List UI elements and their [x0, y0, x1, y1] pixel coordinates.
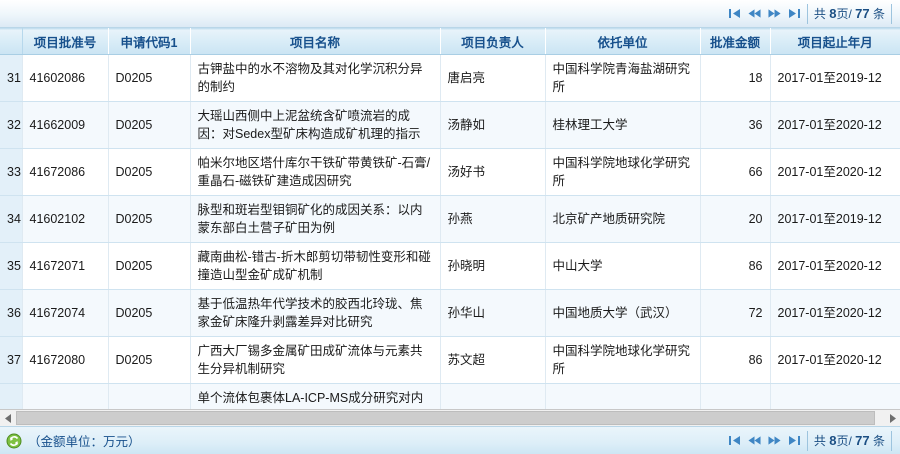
table-row[interactable]: 3141602086D0205古钾盐中的水不溶物及其对化学沉积分异的制约唐启亮中…: [0, 55, 900, 102]
project-name-cell: 藏南曲松-错古-折木郎剪切带韧性变形和碰撞造山型金矿成矿机制: [190, 243, 440, 290]
row-index-cell: 35: [0, 243, 22, 290]
count-prefix: 共: [814, 7, 826, 21]
grant-no-cell: 41672080: [22, 337, 108, 384]
project-name-cell: 单个流体包裹体LA-ICP-MS成分研究对内蒙古白音诺尔矽卡岩型铅锌矿床成矿流体…: [190, 384, 440, 410]
column-header-grant-no[interactable]: 项目批准号: [22, 29, 108, 55]
row-index-cell: 37: [0, 337, 22, 384]
column-header-principal-investigator[interactable]: 项目负责人: [440, 29, 545, 55]
project-name-cell: 脉型和斑岩型钼铜矿化的成因关系：以内蒙东部白土营子矿田为例: [190, 196, 440, 243]
row-index-cell: 32: [0, 102, 22, 149]
scroll-left-arrow-icon[interactable]: [0, 410, 16, 426]
table-row[interactable]: 3341672086D0205帕米尔地区塔什库尔干铁矿带黄铁矿-石膏/重晶石-磁…: [0, 149, 900, 196]
last-page-icon[interactable]: [788, 434, 801, 447]
project-name-cell: 帕米尔地区塔什库尔干铁矿带黄铁矿-石膏/重晶石-磁铁矿建造成因研究: [190, 149, 440, 196]
table-row[interactable]: 3841602083D0205单个流体包裹体LA-ICP-MS成分研究对内蒙古白…: [0, 384, 900, 410]
project-period-cell: 2017-01至2020-12: [770, 243, 900, 290]
amount-unit-note: （金额单位：万元）: [28, 431, 141, 450]
institution-cell: 中山大学: [545, 243, 700, 290]
approved-amount-cell: 72: [700, 290, 770, 337]
project-name-cell: 广西大厂锡多金属矿田成矿流体与元素共生分异机制研究: [190, 337, 440, 384]
row-index-cell: 31: [0, 55, 22, 102]
principal-investigator-cell: 汤静如: [440, 102, 545, 149]
first-page-icon[interactable]: [728, 7, 741, 20]
amount-unit-note-group: （金额单位：万元）: [6, 431, 141, 450]
row-index-cell: 36: [0, 290, 22, 337]
table-row[interactable]: 3641672074D0205基于低温热年代学技术的胶西北玲珑、焦家金矿床隆升剥…: [0, 290, 900, 337]
project-period-cell: 2017-01至2019-12: [770, 384, 900, 410]
scrollbar-thumb[interactable]: [16, 411, 875, 425]
top-pagination-nav: [728, 7, 801, 20]
approved-amount-cell: 20: [700, 384, 770, 410]
top-page-count: 共 8页/ 77 条: [807, 4, 892, 24]
institution-cell: 中国地质大学（武汉）: [545, 290, 700, 337]
principal-investigator-cell: 孙燕: [440, 196, 545, 243]
application-code-cell: D0205: [108, 149, 190, 196]
results-table: 项目批准号 申请代码1 项目名称 项目负责人 依托单位 批准金额 项目起止年月 …: [0, 28, 900, 409]
institution-cell: 中国科学院地球化学研究所: [545, 337, 700, 384]
institution-cell: 桂林理工大学: [545, 102, 700, 149]
column-header-approved-amount[interactable]: 批准金额: [700, 29, 770, 55]
column-header-index[interactable]: [0, 29, 22, 55]
approved-amount-cell: 86: [700, 243, 770, 290]
row-index-cell: 33: [0, 149, 22, 196]
approved-amount-cell: 36: [700, 102, 770, 149]
grant-no-cell: 41672071: [22, 243, 108, 290]
prev-page-icon[interactable]: [748, 434, 761, 447]
project-period-cell: 2017-01至2019-12: [770, 55, 900, 102]
currency-refresh-icon: [6, 433, 22, 449]
table-row[interactable]: 3741672080D0205广西大厂锡多金属矿田成矿流体与元素共生分异机制研究…: [0, 337, 900, 384]
project-period-cell: 2017-01至2019-12: [770, 196, 900, 243]
project-period-cell: 2017-01至2020-12: [770, 149, 900, 196]
prev-page-icon[interactable]: [748, 7, 761, 20]
application-code-cell: D0205: [108, 384, 190, 410]
principal-investigator-cell: 苏文超: [440, 337, 545, 384]
pages-unit: 页/: [836, 434, 851, 448]
table-row[interactable]: 3541672071D0205藏南曲松-错古-折木郎剪切带韧性变形和碰撞造山型金…: [0, 243, 900, 290]
column-header-institution[interactable]: 依托单位: [545, 29, 700, 55]
last-page-icon[interactable]: [788, 7, 801, 20]
pages-unit: 页/: [836, 7, 851, 21]
bottom-pagination: 共 8页/ 77 条: [728, 431, 892, 451]
institution-cell: 中国科学院地球化学研究所: [545, 149, 700, 196]
next-page-icon[interactable]: [768, 434, 781, 447]
principal-investigator-cell: 唐启亮: [440, 55, 545, 102]
principal-investigator-cell: 孙晓明: [440, 243, 545, 290]
first-page-icon[interactable]: [728, 434, 741, 447]
records-unit: 条: [873, 7, 885, 21]
scroll-right-arrow-icon[interactable]: [884, 410, 900, 426]
bottom-page-count: 共 8页/ 77 条: [807, 431, 892, 451]
scrollbar-trough[interactable]: [16, 410, 884, 426]
application-code-cell: D0205: [108, 290, 190, 337]
institution-cell: 中国科学院青海盐湖研究所: [545, 55, 700, 102]
table-row[interactable]: 3241662009D0205大瑶山西侧中上泥盆统含矿喷流岩的成因：对Sedex…: [0, 102, 900, 149]
table-header: 项目批准号 申请代码1 项目名称 项目负责人 依托单位 批准金额 项目起止年月: [0, 29, 900, 55]
horizontal-scrollbar[interactable]: [0, 409, 900, 426]
application-code-cell: D0205: [108, 243, 190, 290]
project-period-cell: 2017-01至2020-12: [770, 290, 900, 337]
column-header-application-code[interactable]: 申请代码1: [108, 29, 190, 55]
bottom-pagination-nav: [728, 434, 801, 447]
row-index-cell: 34: [0, 196, 22, 243]
application-code-cell: D0205: [108, 102, 190, 149]
approved-amount-cell: 66: [700, 149, 770, 196]
records-unit: 条: [873, 434, 885, 448]
project-period-cell: 2017-01至2020-12: [770, 102, 900, 149]
application-code-cell: D0205: [108, 196, 190, 243]
total-records: 77: [855, 6, 869, 21]
grant-list-page: 共 8页/ 77 条 项目批准号 申请代码1 项目名称 项目负责人 依托单位 批…: [0, 0, 900, 454]
next-page-icon[interactable]: [768, 7, 781, 20]
project-period-cell: 2017-01至2020-12: [770, 337, 900, 384]
grant-no-cell: 41602086: [22, 55, 108, 102]
institution-cell: 中国地质大学（北京）: [545, 384, 700, 410]
row-index-cell: 38: [0, 384, 22, 410]
principal-investigator-cell: 孙华山: [440, 290, 545, 337]
grant-no-cell: 41602083: [22, 384, 108, 410]
project-name-cell: 大瑶山西侧中上泥盆统含矿喷流岩的成因：对Sedex型矿床构造成矿机理的指示: [190, 102, 440, 149]
column-header-project-period[interactable]: 项目起止年月: [770, 29, 900, 55]
total-records: 77: [855, 433, 869, 448]
results-table-container[interactable]: 项目批准号 申请代码1 项目名称 项目负责人 依托单位 批准金额 项目起止年月 …: [0, 28, 900, 409]
table-row[interactable]: 3441602102D0205脉型和斑岩型钼铜矿化的成因关系：以内蒙东部白土营子…: [0, 196, 900, 243]
project-name-cell: 基于低温热年代学技术的胶西北玲珑、焦家金矿床隆升剥露差异对比研究: [190, 290, 440, 337]
principal-investigator-cell: 汤好书: [440, 149, 545, 196]
application-code-cell: D0205: [108, 55, 190, 102]
principal-investigator-cell: 舒启海: [440, 384, 545, 410]
top-pagination-bar: 共 8页/ 77 条: [0, 0, 900, 28]
grant-no-cell: 41662009: [22, 102, 108, 149]
grant-no-cell: 41602102: [22, 196, 108, 243]
approved-amount-cell: 86: [700, 337, 770, 384]
approved-amount-cell: 20: [700, 196, 770, 243]
grant-no-cell: 41672074: [22, 290, 108, 337]
bottom-status-bar: （金额单位：万元） 共 8页/ 77 条: [0, 426, 900, 454]
column-header-project-name[interactable]: 项目名称: [190, 29, 440, 55]
approved-amount-cell: 18: [700, 55, 770, 102]
grant-no-cell: 41672086: [22, 149, 108, 196]
table-header-row: 项目批准号 申请代码1 项目名称 项目负责人 依托单位 批准金额 项目起止年月: [0, 29, 900, 55]
application-code-cell: D0205: [108, 337, 190, 384]
count-prefix: 共: [814, 434, 826, 448]
institution-cell: 北京矿产地质研究院: [545, 196, 700, 243]
project-name-cell: 古钾盐中的水不溶物及其对化学沉积分异的制约: [190, 55, 440, 102]
table-body: 3141602086D0205古钾盐中的水不溶物及其对化学沉积分异的制约唐启亮中…: [0, 55, 900, 410]
